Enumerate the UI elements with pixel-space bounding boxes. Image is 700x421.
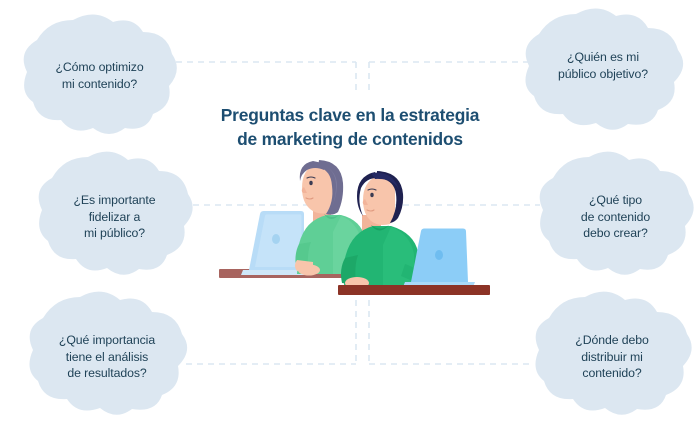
cloud-middle-right-text: ¿Qué tipo de contenido debo crear? xyxy=(533,192,698,242)
laptop-left-logo xyxy=(272,234,280,244)
cloud-top-left[interactable]: ¿Cómo optimizo mi contenido? xyxy=(17,12,182,137)
laptop-right-logo xyxy=(435,250,443,260)
cloud-middle-left-text: ¿Es importante fidelizar a mi público? xyxy=(32,192,197,242)
page-title: Preguntas clave en la estrategia de mark… xyxy=(175,103,525,151)
eye-right-person xyxy=(370,193,373,197)
infographic-canvas: Preguntas clave en la estrategia de mark… xyxy=(0,0,700,421)
cloud-middle-left[interactable]: ¿Es importante fidelizar a mi público? xyxy=(32,148,197,278)
cloud-bottom-right[interactable]: ¿Dónde debo distribuir mi contenido? xyxy=(528,288,696,418)
cloud-middle-right[interactable]: ¿Qué tipo de contenido debo crear? xyxy=(533,148,698,278)
cloud-top-right[interactable]: ¿Quién es mi público objetivo? xyxy=(518,6,688,131)
cloud-bottom-left[interactable]: ¿Qué importancia tiene el análisis de re… xyxy=(22,288,192,418)
hand-left xyxy=(298,265,320,276)
cloud-top-right-text: ¿Quién es mi público objetivo? xyxy=(518,49,688,82)
cloud-bottom-left-text: ¿Qué importancia tiene el análisis de re… xyxy=(22,332,192,382)
desk-right xyxy=(338,285,490,295)
eye-left-person xyxy=(309,181,312,185)
cloud-top-left-text: ¿Cómo optimizo mi contenido? xyxy=(17,59,182,92)
cloud-bottom-right-text: ¿Dónde debo distribuir mi contenido? xyxy=(528,332,696,382)
illustration-two-people-with-laptops xyxy=(205,152,505,298)
